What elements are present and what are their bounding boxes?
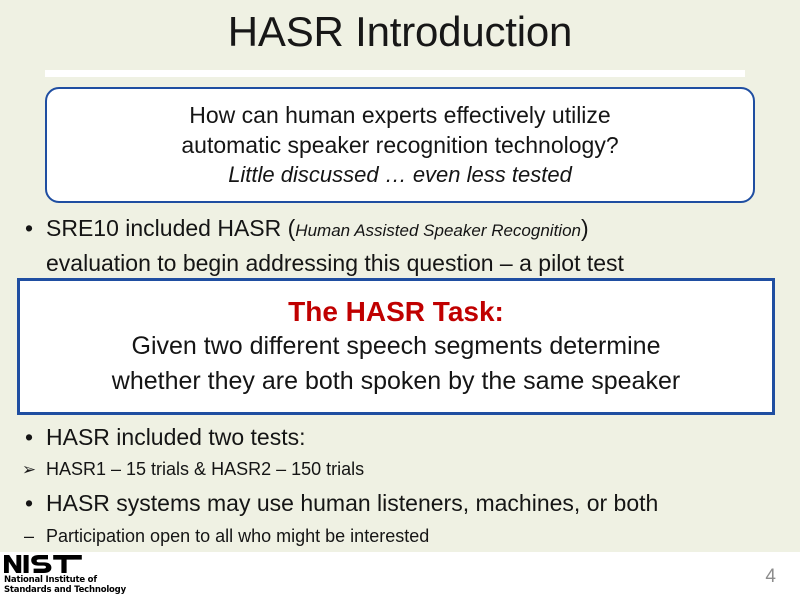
- arrow-bullet-icon: ➢: [12, 456, 46, 484]
- nist-wordmark-icon: [4, 554, 82, 574]
- sre10-text-before: SRE10 included HASR: [46, 215, 288, 241]
- list-item-label: HASR included two tests:: [46, 420, 306, 454]
- task-line-2: whether they are both spoken by the same…: [112, 364, 680, 399]
- question-line-1: How can human experts effectively utiliz…: [189, 100, 610, 130]
- list-item: ➢ HASR1 – 15 trials & HASR2 – 150 trials: [12, 455, 792, 484]
- nist-tagline: National Institute of Standards and Tech…: [4, 575, 134, 595]
- nist-tagline-line-2: Standards and Technology: [4, 585, 134, 595]
- bullet-marker-icon: •: [12, 420, 46, 454]
- list-item-label: HASR1 – 15 trials & HASR2 – 150 trials: [46, 455, 364, 483]
- list-item: • HASR systems may use human listeners, …: [12, 486, 792, 520]
- dash-bullet-icon: –: [12, 522, 46, 550]
- lower-bullet-list: • HASR included two tests: ➢ HASR1 – 15 …: [12, 418, 792, 550]
- page-number: 4: [765, 566, 776, 588]
- presentation-slide: HASR Introduction How can human experts …: [0, 0, 800, 599]
- bullet-sre10-text: SRE10 included HASR (Human Assisted Spea…: [46, 212, 624, 279]
- list-item-label: Participation open to all who might be i…: [46, 522, 429, 550]
- question-line-3-italic: Little discussed … even less tested: [228, 160, 572, 190]
- list-item: – Participation open to all who might be…: [12, 522, 792, 550]
- sre10-line-2: evaluation to begin addressing this ques…: [46, 250, 624, 276]
- bullet-marker-icon: •: [12, 212, 46, 244]
- sre10-expansion: Human Assisted Speaker Recognition: [295, 221, 581, 240]
- question-line-2: automatic speaker recognition technology…: [181, 130, 618, 160]
- task-line-1: Given two different speech segments dete…: [132, 329, 661, 364]
- question-callout-box: How can human experts effectively utiliz…: [45, 87, 755, 203]
- task-heading: The HASR Task:: [288, 295, 504, 329]
- bullet-sre10: • SRE10 included HASR (Human Assisted Sp…: [12, 212, 772, 279]
- hasr-task-box: The HASR Task: Given two different speec…: [17, 278, 775, 415]
- list-item: • HASR included two tests:: [12, 420, 792, 454]
- title-divider: [45, 70, 745, 77]
- list-item-label: HASR systems may use human listeners, ma…: [46, 486, 658, 520]
- nist-tagline-line-1: National Institute of: [4, 575, 134, 585]
- bullet-marker-icon: •: [12, 486, 46, 520]
- nist-logo: National Institute of Standards and Tech…: [4, 554, 134, 595]
- sre10-paren-close: ): [581, 215, 589, 241]
- page-title: HASR Introduction: [0, 6, 800, 58]
